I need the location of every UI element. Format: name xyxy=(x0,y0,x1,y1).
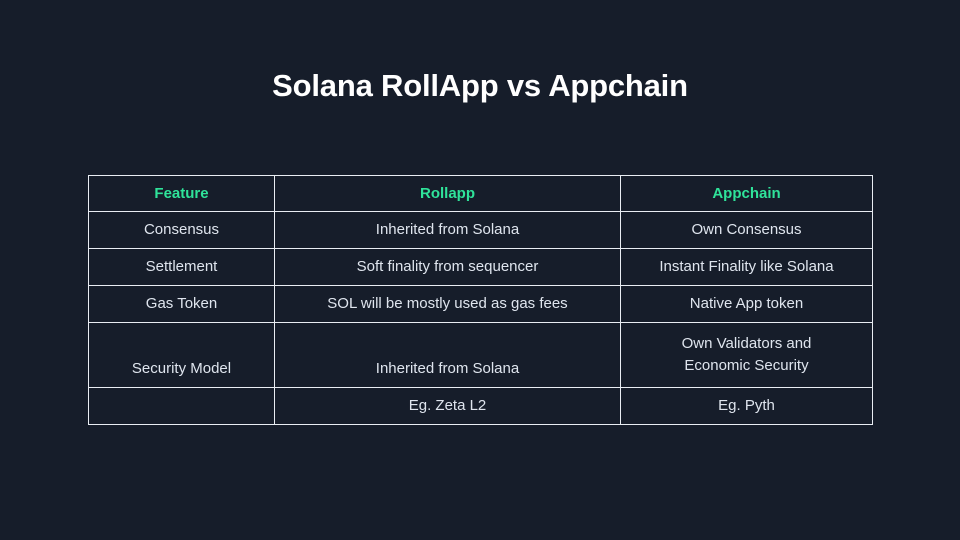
cell-appchain: Own Consensus xyxy=(621,212,873,249)
cell-appchain: Native App token xyxy=(621,286,873,323)
cell-rollapp: Inherited from Solana xyxy=(275,212,621,249)
cell-feature: Gas Token xyxy=(89,286,275,323)
table-row: Eg. Zeta L2 Eg. Pyth xyxy=(89,388,873,425)
table-body: Consensus Inherited from Solana Own Cons… xyxy=(89,212,873,425)
cell-appchain-line-2: Economic Security xyxy=(627,355,866,377)
column-header-appchain: Appchain xyxy=(621,176,873,212)
cell-rollapp: Soft finality from sequencer xyxy=(275,249,621,286)
cell-rollapp: Eg. Zeta L2 xyxy=(275,388,621,425)
page-title: Solana RollApp vs Appchain xyxy=(0,64,960,108)
cell-feature xyxy=(89,388,275,425)
cell-rollapp: SOL will be mostly used as gas fees xyxy=(275,286,621,323)
cell-feature: Security Model xyxy=(89,323,275,388)
slide-canvas: Solana RollApp vs Appchain Feature Rolla… xyxy=(0,0,960,540)
table-row: Consensus Inherited from Solana Own Cons… xyxy=(89,212,873,249)
cell-feature: Consensus xyxy=(89,212,275,249)
table-header-row: Feature Rollapp Appchain xyxy=(89,176,873,212)
table-header: Feature Rollapp Appchain xyxy=(89,176,873,212)
column-header-feature: Feature xyxy=(89,176,275,212)
table-row: Security Model Inherited from Solana Own… xyxy=(89,323,873,388)
cell-feature: Settlement xyxy=(89,249,275,286)
cell-appchain: Own Validators and Economic Security xyxy=(621,323,873,388)
comparison-table-wrapper: Feature Rollapp Appchain Consensus Inher… xyxy=(88,175,872,425)
table-row: Gas Token SOL will be mostly used as gas… xyxy=(89,286,873,323)
table-row: Settlement Soft finality from sequencer … xyxy=(89,249,873,286)
column-header-rollapp: Rollapp xyxy=(275,176,621,212)
comparison-table: Feature Rollapp Appchain Consensus Inher… xyxy=(88,175,873,425)
cell-appchain: Eg. Pyth xyxy=(621,388,873,425)
cell-appchain: Instant Finality like Solana xyxy=(621,249,873,286)
cell-appchain-line-1: Own Validators and xyxy=(627,333,866,355)
cell-rollapp: Inherited from Solana xyxy=(275,323,621,388)
